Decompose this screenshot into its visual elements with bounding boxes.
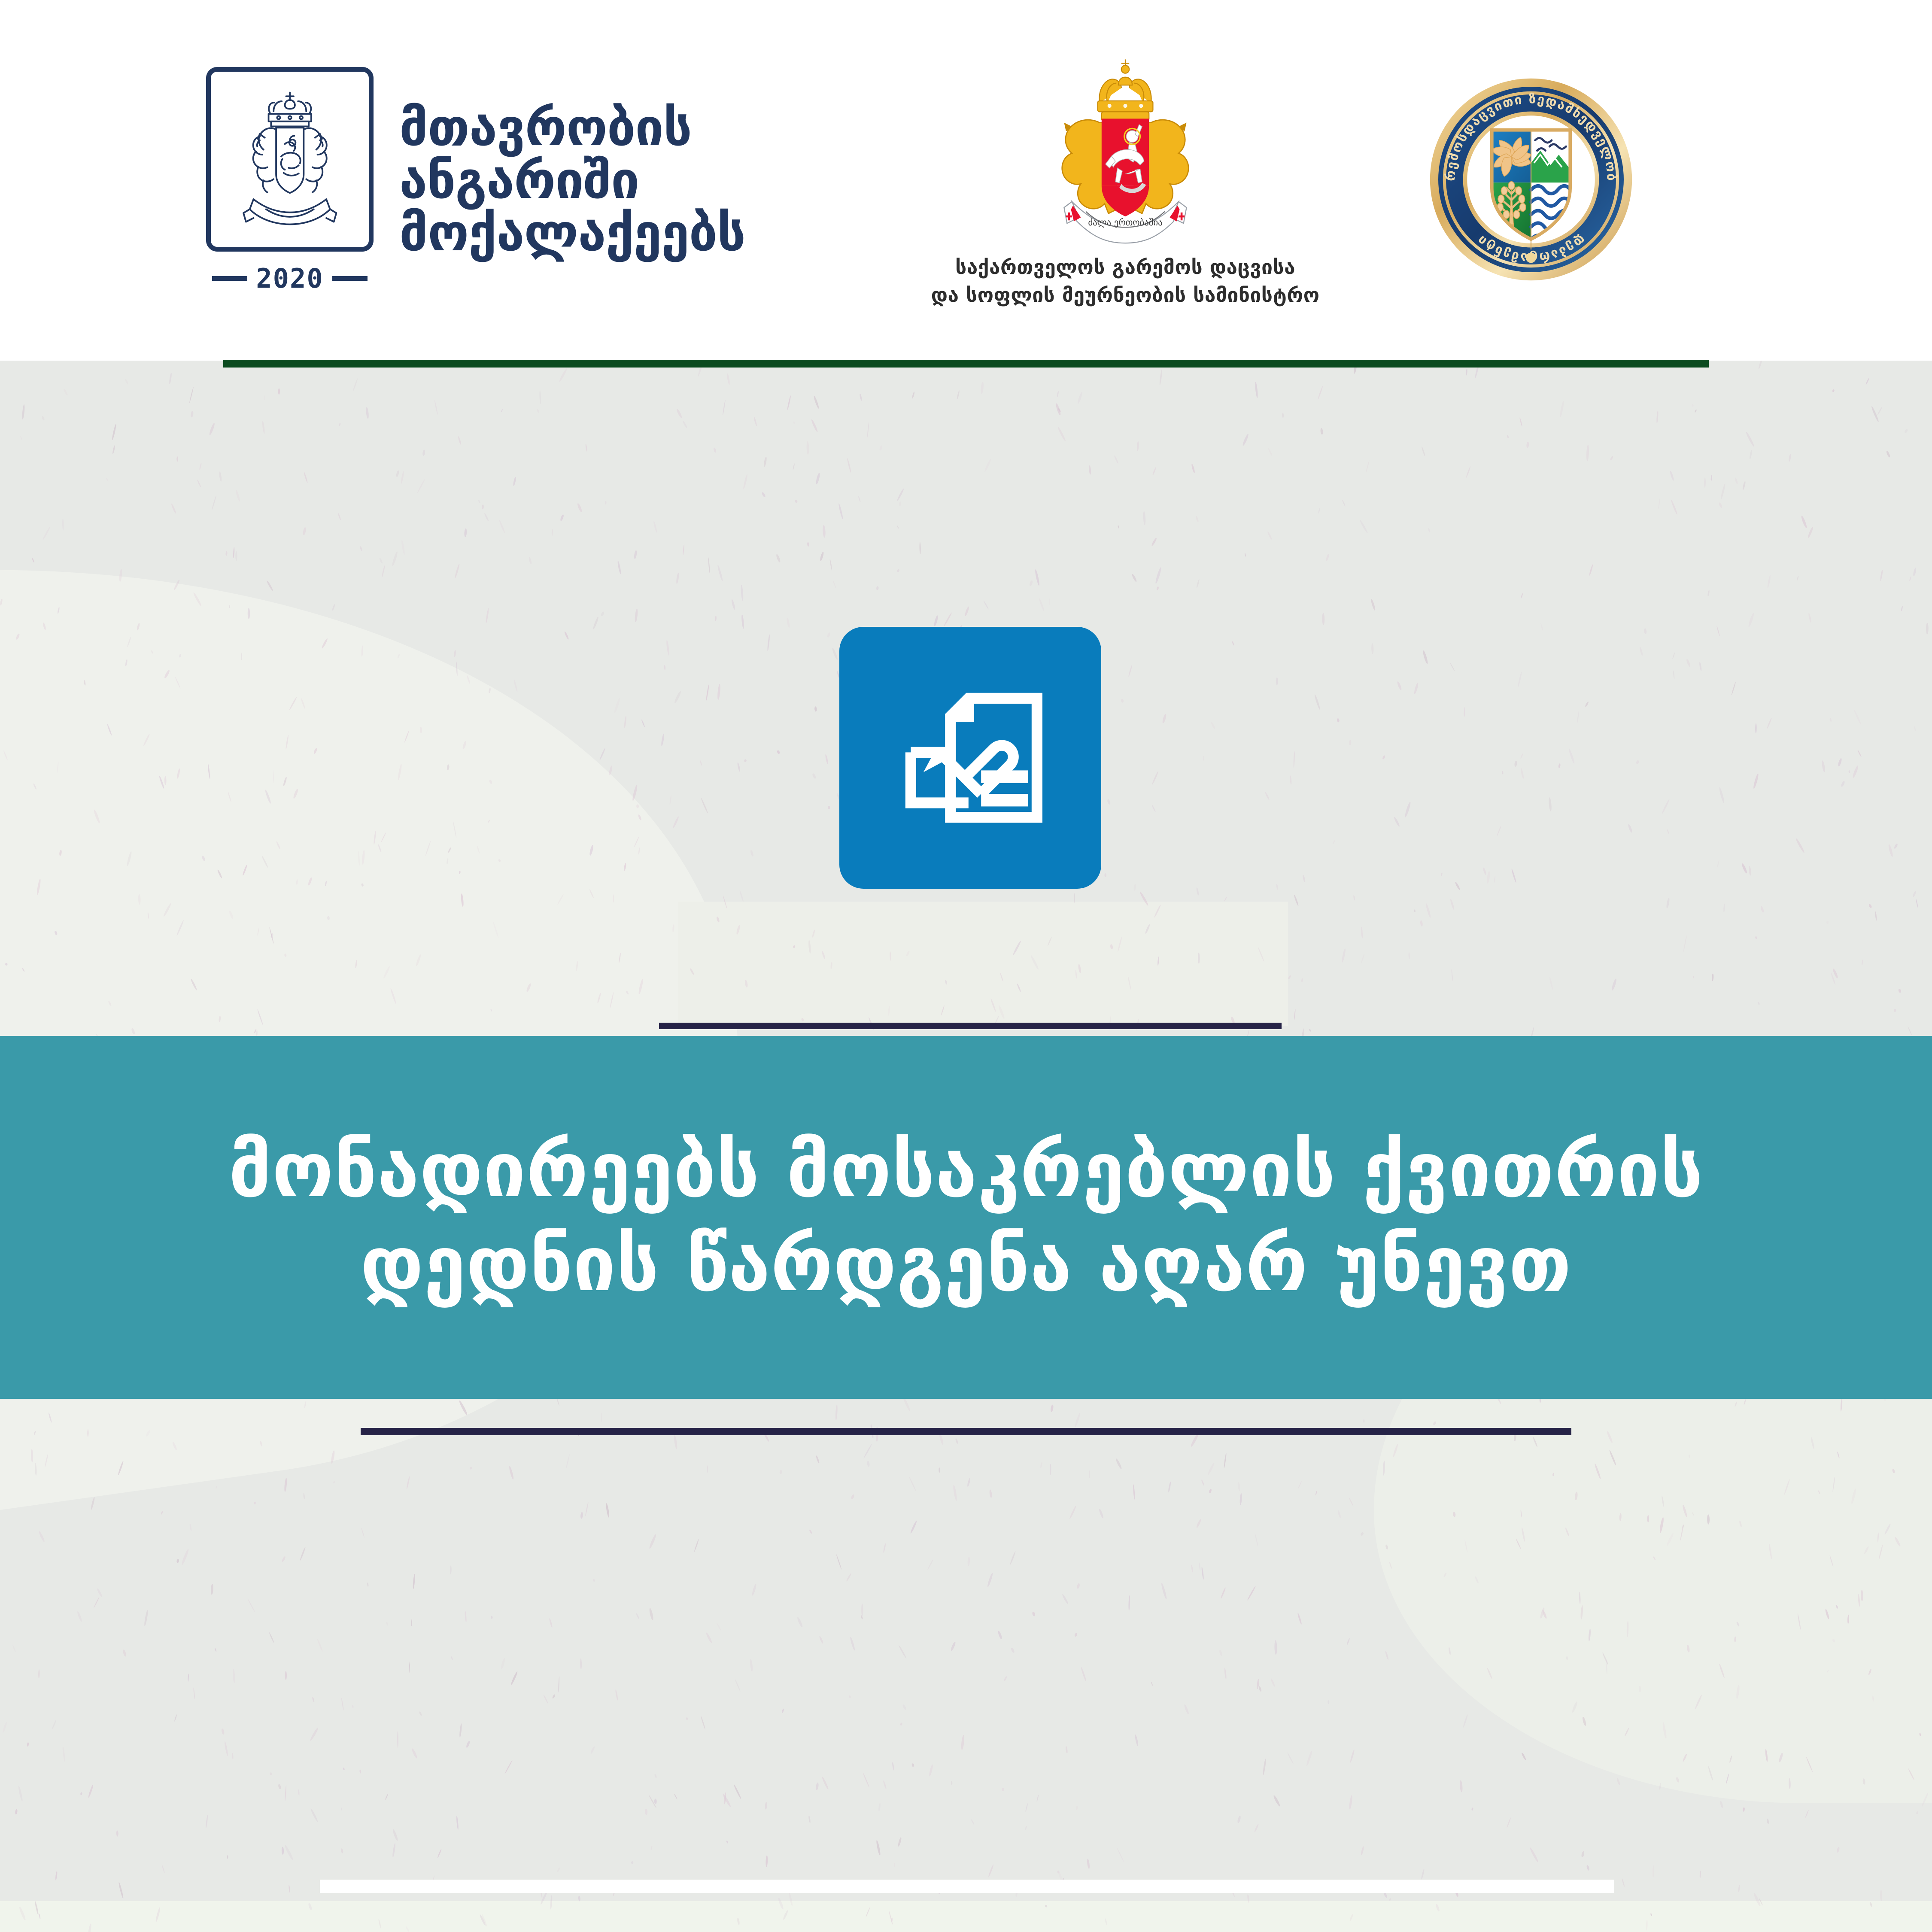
crest-year-row: 2020 (206, 263, 374, 294)
bottom-white-rule (320, 1880, 1614, 1893)
georgia-coat-of-arms-color-icon: ძალა ერთობაშია (1024, 52, 1226, 249)
logo-row: 2020 მთავრობის ანგარიში მოქალაქეებს (0, 52, 1932, 310)
environmental-supervision-agency-seal-icon: გარემოსდაცვითი ზედამხედველობის დეპარტამე… (1428, 76, 1634, 284)
ministry-caption-line-2: და სოფლის მეურნეობის სამინისტრო (931, 281, 1320, 309)
wordmark-line-3: მოქალაქეებს (399, 207, 745, 259)
government-report-logo: 2020 მთავრობის ანგარიში მოქალაქეებს (206, 67, 745, 294)
background-bottom-band (0, 1901, 1932, 1932)
svg-text:ძალა ერთობაშია: ძალა ერთობაშია (1088, 217, 1162, 227)
georgia-coat-of-arms-outline-icon (206, 67, 374, 252)
ministry-caption: საქართველოს გარემოს დაცვისა და სოფლის მე… (931, 253, 1320, 310)
page-title: მონადირეებს მოსაკრებლის ქვითრის დედნის წ… (143, 1124, 1789, 1311)
year-rule-left (212, 276, 247, 281)
background-soft-panel (678, 902, 1288, 1026)
year-rule-right (332, 276, 368, 281)
header-green-divider (223, 360, 1709, 368)
divider-above-headline (659, 1023, 1282, 1029)
document-sign-icon (839, 627, 1101, 889)
government-report-wordmark: მთავრობის ანგარიში მოქალაქეებს (399, 101, 745, 259)
crest-year-label: 2020 (256, 263, 323, 294)
header-bar: 2020 მთავრობის ანგარიში მოქალაქეებს (0, 0, 1932, 361)
ministry-caption-line-1: საქართველოს გარემოს დაცვისა (931, 253, 1320, 281)
wordmark-line-2: ანგარიში (399, 154, 745, 207)
wordmark-line-1: მთავრობის (399, 101, 745, 154)
ministry-logo: ძალა ერთობაშია საქართველოს გარემოს დაცვი… (900, 52, 1351, 310)
divider-below-headline (361, 1428, 1571, 1435)
crest-block: 2020 (206, 67, 374, 294)
headline-band: მონადირეებს მოსაკრებლის ქვითრის დედნის წ… (0, 1036, 1932, 1399)
